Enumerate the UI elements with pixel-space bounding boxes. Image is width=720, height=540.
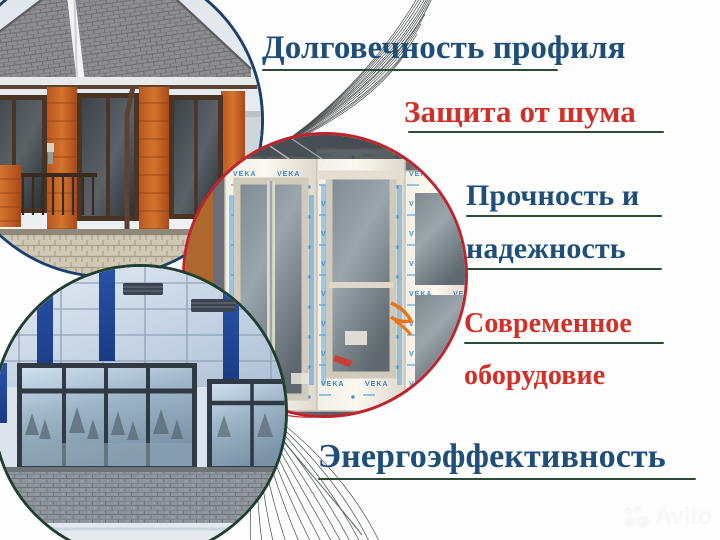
benefit-energy-efficiency-label: Энергоэффективность (318, 440, 696, 475)
benefit-strength-line-1: Прочность и (466, 181, 662, 217)
benefit-underline (466, 215, 662, 217)
benefit-noise-protection-label: Защита от шума (404, 96, 664, 128)
commercial-facade-illustration (0, 267, 285, 540)
avito-watermark-label: Avito (655, 505, 712, 529)
benefit-equipment-line-1: Современное (464, 310, 664, 344)
benefit-equipment-label-2: оборудовие (464, 362, 605, 391)
benefit-strength-label-2: надежность (466, 234, 662, 265)
banner-canvas: VEKA (0, 0, 720, 540)
benefit-noise-protection: Защита от шума (404, 96, 664, 133)
benefit-energy-efficiency: Энергоэффективность (318, 440, 696, 480)
avito-dots-icon (624, 506, 650, 528)
avito-watermark: Avito (624, 502, 712, 532)
benefit-underline (318, 478, 696, 480)
benefit-strength-line-2: надежность (466, 234, 662, 270)
benefit-underline (408, 131, 664, 133)
benefit-underline (464, 342, 664, 344)
benefit-equipment-line-2: оборудовие (464, 362, 605, 391)
benefit-durability-label: Долговечность профиля (262, 32, 626, 66)
benefit-underline (262, 69, 558, 71)
benefit-underline (466, 268, 662, 270)
benefit-durability: Долговечность профиля (262, 32, 626, 71)
benefit-strength-label-1: Прочность и (466, 181, 662, 212)
benefit-equipment-label-1: Современное (464, 310, 664, 339)
